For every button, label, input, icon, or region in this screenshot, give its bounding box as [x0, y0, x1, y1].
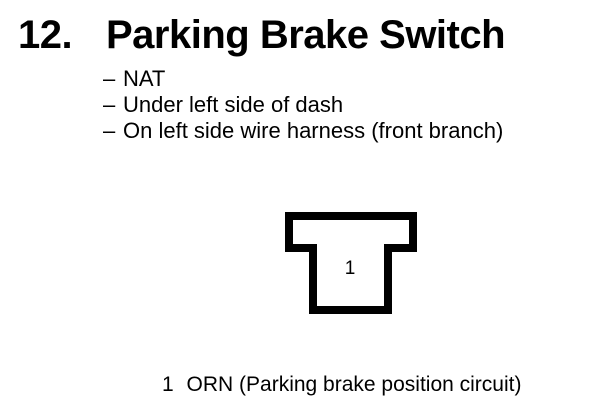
dash-icon: –	[103, 66, 123, 92]
caption-pin-number: 1	[162, 373, 174, 396]
list-item-label: Under left side of dash	[123, 92, 343, 118]
caption-circuit-text: ORN (Parking brake position circuit)	[187, 373, 522, 396]
dash-icon: –	[103, 118, 123, 144]
spec-list: – NAT – Under left side of dash – On lef…	[103, 66, 603, 144]
list-item: – On left side wire harness (front branc…	[103, 118, 603, 144]
item-number: 12.	[18, 12, 72, 58]
list-item-label: On left side wire harness (front branch)	[123, 118, 503, 144]
connector-diagram: 1	[275, 205, 425, 325]
figure-caption: 1 ORN (Parking brake position circuit)	[162, 372, 521, 397]
list-item: – Under left side of dash	[103, 92, 603, 118]
dash-icon: –	[103, 92, 123, 118]
list-item: – NAT	[103, 66, 603, 92]
list-item-label: NAT	[123, 66, 165, 92]
pin-number-label: 1	[275, 259, 425, 278]
figure-page: 12. Parking Brake Switch – NAT – Under l…	[0, 0, 608, 416]
figure-header: 12. Parking Brake Switch	[0, 12, 608, 58]
page-title: Parking Brake Switch	[106, 12, 505, 58]
